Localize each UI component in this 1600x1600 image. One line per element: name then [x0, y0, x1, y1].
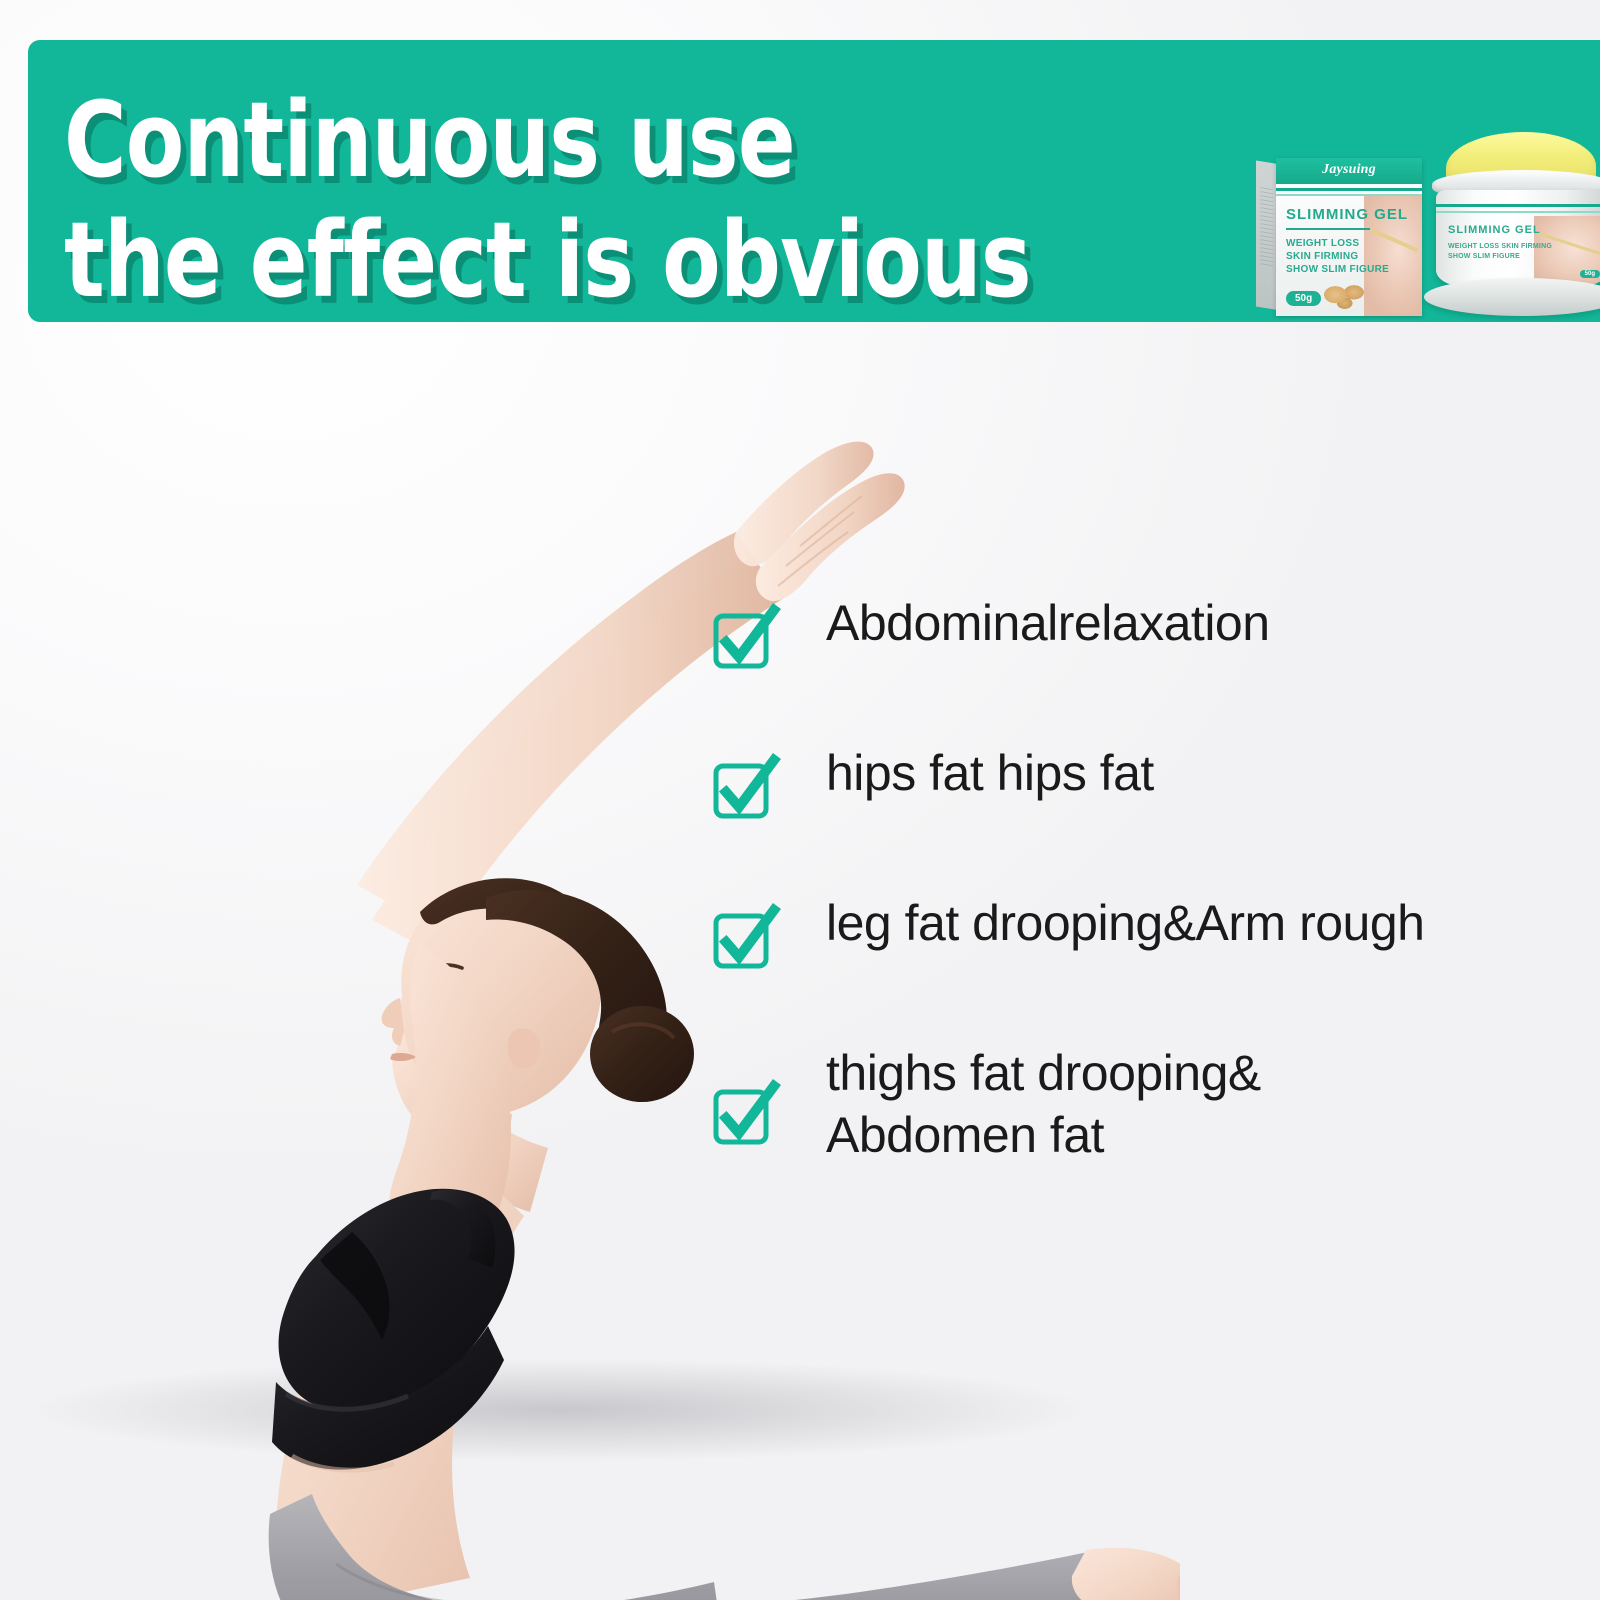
model-hair-bun [590, 1006, 694, 1102]
checkbox-checked-icon [712, 908, 776, 972]
model-profile-nose [382, 998, 404, 1046]
jar-body: SLIMMING GEL WEIGHT LOSS SKIN FIRMING SH… [1436, 190, 1600, 286]
benefit-label: Abdominalrelaxation [826, 592, 1270, 654]
product-box-title: SLIMMING GEL [1286, 206, 1408, 223]
product-box-image: Jaysuing SLIMMING GEL WEIGHT LOSS SKIN F… [1256, 158, 1422, 316]
checkbox-checked-icon [712, 1084, 776, 1148]
headline-line-2: the effect is obvious [64, 208, 1015, 312]
benefit-item-abdominal-relaxation: Abdominalrelaxation [712, 592, 1592, 672]
jar-stripe-primary [1436, 204, 1600, 207]
benefits-list: Abdominalrelaxation hips fat hips fat le… [712, 592, 1592, 1166]
ginger-root-icon [1318, 276, 1376, 310]
product-box-weight-badge: 50g [1286, 291, 1321, 306]
product-jar-image: SLIMMING GEL WEIGHT LOSS SKIN FIRMING SH… [1418, 132, 1600, 322]
benefit-label: hips fat hips fat [826, 742, 1154, 804]
checkbox-checked-icon [712, 608, 776, 672]
jar-base [1424, 278, 1600, 316]
jar-stripe-secondary [1436, 211, 1600, 213]
header-banner: Continuous use the effect is obvious Jay… [28, 40, 1600, 322]
product-marketing-banner: Continuous use the effect is obvious Jay… [0, 0, 1600, 1600]
product-box-reflection [1276, 316, 1422, 322]
floor-shadow [30, 1358, 1090, 1462]
product-box-rule [1286, 228, 1370, 230]
product-box-benefits: WEIGHT LOSS SKIN FIRMING SHOW SLIM FIGUR… [1286, 237, 1389, 276]
benefit-label: leg fat drooping&Arm rough [826, 892, 1424, 954]
model-leg-extended [496, 1552, 1098, 1600]
product-box-front: Jaysuing SLIMMING GEL WEIGHT LOSS SKIN F… [1276, 158, 1422, 316]
benefit-item-leg-fat-drooping: leg fat drooping&Arm rough [712, 892, 1592, 972]
benefit-item-hips-fat: hips fat hips fat [712, 742, 1592, 822]
product-brand-name: Jaysuing [1276, 162, 1422, 178]
product-box-side-text [1260, 187, 1273, 269]
jar-title: SLIMMING GEL [1448, 224, 1541, 236]
product-box-stripe-primary [1276, 188, 1422, 191]
checkbox-checked-icon [712, 758, 776, 822]
jar-weight-badge: 50g [1580, 270, 1600, 278]
model-foot-far [1072, 1548, 1180, 1600]
product-box-side [1256, 161, 1278, 310]
benefit-label: thighs fat drooping& Abdomen fat [826, 1042, 1261, 1166]
jar-benefits: WEIGHT LOSS SKIN FIRMING SHOW SLIM FIGUR… [1448, 242, 1552, 262]
headline: Continuous use the effect is obvious [64, 44, 1224, 312]
benefit-item-thighs-fat-drooping: thighs fat drooping& Abdomen fat [712, 1042, 1592, 1166]
headline-line-1: Continuous use [64, 88, 1015, 192]
